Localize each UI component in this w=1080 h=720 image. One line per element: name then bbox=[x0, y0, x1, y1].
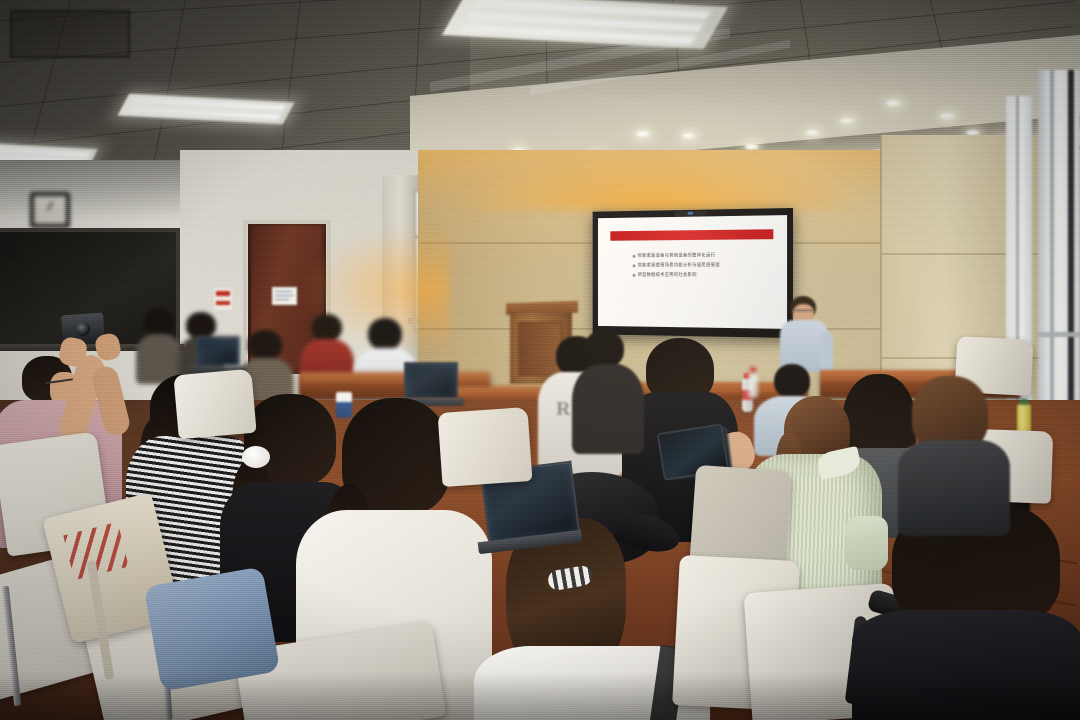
slide-bullet-list: 智能家居设备与其他设备的整体化运行 智能家居使用场景功能分析与居民接受度 新型数… bbox=[632, 253, 771, 283]
water-bottle bbox=[748, 372, 758, 398]
recessed-downlight bbox=[840, 118, 855, 124]
presentation-slide: 智能家居设备与其他设备的整体化运行 智能家居使用场景功能分析与居民接受度 新型数… bbox=[598, 215, 787, 329]
recessed-downlight bbox=[940, 113, 956, 120]
recessed-downlight bbox=[806, 130, 820, 136]
recessed-downlight bbox=[886, 100, 902, 107]
list-item: 智能家居设备与其他设备的整体化运行 bbox=[632, 253, 771, 259]
slide-bullet-text: 智能家居使用场景功能分析与居民接受度 bbox=[638, 263, 720, 268]
recessed-downlight bbox=[636, 131, 651, 138]
open-laptop[interactable] bbox=[404, 362, 458, 398]
recessed-downlight bbox=[682, 133, 696, 139]
camera-lens bbox=[76, 322, 91, 337]
list-item: 新型数据技术应用的社会影响 bbox=[632, 273, 771, 278]
lecture-hall-photo: 智能家居设备与其他设备的整体化运行 智能家居使用场景功能分析与居民接受度 新型数… bbox=[0, 0, 1080, 720]
foreground-shadow bbox=[0, 672, 1080, 720]
bullet-icon bbox=[632, 254, 635, 257]
coffee-cup bbox=[336, 392, 352, 418]
person-blonde-shirt bbox=[898, 440, 1010, 536]
wall-mounted-display[interactable]: 智能家居设备与其他设备的整体化运行 智能家居使用场景功能分析与居民接受度 新型数… bbox=[593, 208, 793, 338]
slide-bullet-text: 智能家居设备与其他设备的整体化运行 bbox=[638, 253, 716, 258]
bullet-icon bbox=[632, 264, 635, 267]
hair-scrunchie bbox=[242, 446, 270, 468]
red-warning-sign bbox=[213, 287, 233, 311]
wall-clock bbox=[30, 192, 70, 228]
molded-seat-chair[interactable] bbox=[438, 407, 533, 487]
cove-light-glow bbox=[450, 150, 870, 210]
lectern-panel bbox=[518, 322, 562, 376]
slide-bullet-text: 新型数据技术应用的社会影响 bbox=[638, 273, 697, 278]
display-camera-bar bbox=[674, 211, 706, 216]
paper-notice bbox=[272, 287, 297, 305]
list-item: 智能家居使用场景功能分析与居民接受度 bbox=[632, 263, 771, 268]
molded-seat-chair[interactable] bbox=[173, 369, 256, 440]
presenter-arm bbox=[820, 332, 833, 374]
arm bbox=[846, 516, 888, 570]
slide-red-banner bbox=[611, 229, 774, 241]
open-laptop[interactable] bbox=[196, 336, 240, 366]
glasses-icon bbox=[794, 310, 813, 314]
bullet-icon bbox=[632, 274, 635, 277]
